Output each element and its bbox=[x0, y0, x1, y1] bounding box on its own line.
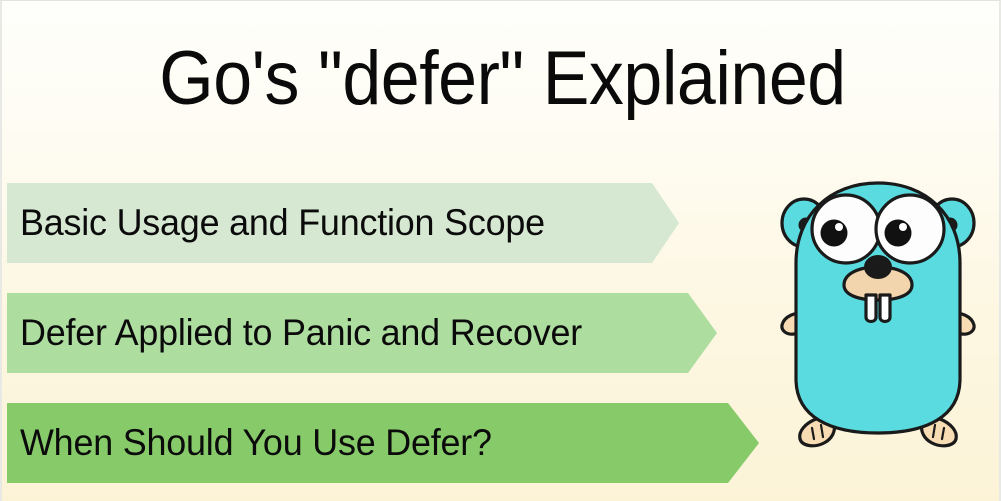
banner-label-1: Basic Usage and Function Scope bbox=[20, 203, 545, 243]
banner-item-2[interactable]: Defer Applied to Panic and Recover bbox=[7, 293, 717, 373]
gopher-left-eye-highlight bbox=[835, 223, 843, 231]
go-gopher-illustration bbox=[770, 171, 986, 471]
gopher-right-tooth bbox=[880, 295, 890, 322]
banner-item-3[interactable]: When Should You Use Defer? bbox=[7, 403, 759, 483]
gopher-nose bbox=[864, 255, 892, 279]
banner-label-3: When Should You Use Defer? bbox=[20, 423, 492, 463]
gopher-left-tooth bbox=[866, 295, 876, 322]
slide-canvas: Go's "defer" Explained Basic Usage and F… bbox=[0, 0, 1001, 501]
gopher-right-pupil bbox=[885, 220, 912, 247]
banner-label-2: Defer Applied to Panic and Recover bbox=[20, 313, 582, 353]
go-gopher-mascot-icon bbox=[770, 171, 986, 471]
banner-item-1[interactable]: Basic Usage and Function Scope bbox=[7, 183, 679, 263]
gopher-right-eye-highlight bbox=[899, 223, 907, 231]
page-title: Go's "defer" Explained bbox=[42, 39, 963, 119]
gopher-left-pupil bbox=[821, 220, 848, 247]
